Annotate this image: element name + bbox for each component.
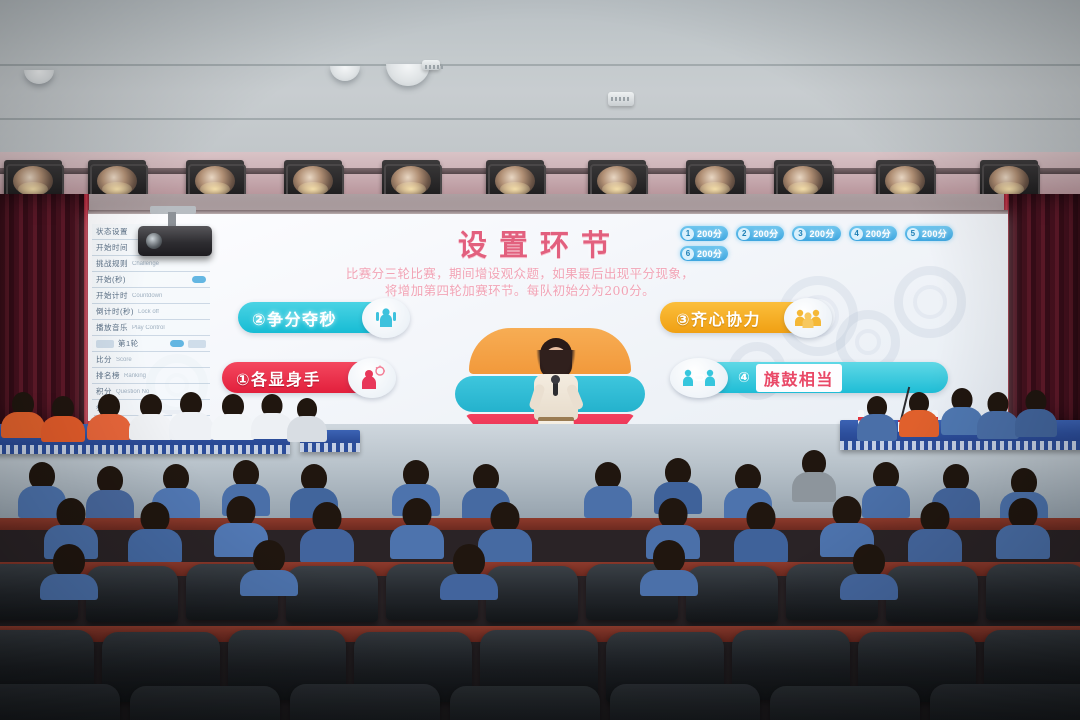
team-number: 5 [907,228,919,240]
person-idea-icon [348,358,396,398]
panel-row-label: 挑战规则 [96,258,128,269]
team-number: 2 [738,228,750,240]
panel-toggle[interactable] [170,340,184,347]
segment-pill-2[interactable]: ②争分夺秒 [238,302,390,333]
audience-member [240,540,298,586]
auditorium-seat [886,566,978,622]
panel-row-label: 开始时间 [96,242,128,253]
panel-row-label: 状态设置 [96,226,128,237]
auditorium-seat [290,684,440,720]
panel-row[interactable]: 开始计时Countdown [92,288,210,304]
microphone-icon [553,380,558,396]
front-row-person [168,392,214,436]
panel-row-label: 排名榜 [96,370,120,381]
auditorium-seat [610,684,760,720]
front-row-person [86,394,132,436]
ceiling-speaker-icon [422,60,440,70]
audience-member [908,502,962,558]
ceiling-speaker-icon [608,92,634,106]
team-score: 200分 [809,227,834,240]
panel-row-value: Play Control [132,325,165,331]
audience-member [390,498,444,554]
screenshot-root: 设置环节 比赛分三轮比赛，期间增设观众题，如果最后出现平分现象， 将增加第四轮加… [0,0,1080,720]
slide-subtitle-line-2: 将增加第四轮加赛环节。每队初始分为200分。 [300,282,740,299]
slide-subtitle: 比赛分三轮比赛，期间增设观众题，如果最后出现平分现象， 将增加第四轮加赛环节。每… [300,265,740,299]
panel-row-label: 倒计时(秒) [96,306,134,317]
team-number: 3 [794,228,806,240]
panel-row[interactable]: 第1轮 [92,336,210,352]
team-score-chip: 2 200分 [736,226,784,241]
panel-row-value: Challenge [132,261,159,267]
panel-button[interactable] [96,340,114,348]
panel-row-label: 开始计时 [96,290,128,301]
segment-pill-1[interactable]: ①各显身手 [222,362,376,393]
auditorium-seat [770,686,920,720]
segment-order-4: ④ [738,369,750,386]
audience-member [734,502,788,558]
auditorium-seat [930,684,1080,720]
panel-row-value: Score [116,357,132,363]
panel-row-value: Lock off [138,309,159,315]
ceiling-downlight [330,66,360,81]
panel-row[interactable]: 排名榜Ranking [92,368,210,384]
panel-row-label: 开始(秒) [96,274,126,285]
segment-label-1: ①各显身手 [236,366,321,390]
team-score: 200分 [697,247,722,260]
segment-label-4: 旗鼓相当 [756,364,842,392]
panel-row[interactable]: 倒计时(秒)Lock off [92,304,210,320]
panel-row-value: Countdown [132,293,162,299]
team-score: 200分 [922,227,947,240]
front-row-person [286,398,328,438]
audience-member [440,544,498,590]
segment-pill-3[interactable]: ③齐心协力 [660,302,816,333]
auditorium-seat [130,686,280,720]
audience-member [840,544,898,590]
team-score-list: 1 200分 2 200分 3 200分 4 200分 5 200分 6 200… [680,226,990,261]
audience-member [640,540,698,586]
audience-area [0,440,1080,720]
team-score-chip: 6 200分 [680,246,728,261]
team-score-chip: 5 200分 [905,226,953,241]
ceiling-downlight [24,70,54,84]
panel-toggle[interactable] [192,276,206,283]
audience-member [300,502,354,558]
slide-subtitle-line-1: 比赛分三轮比赛，期间增设观众题，如果最后出现平分现象， [300,265,740,282]
team-number: 1 [682,228,694,240]
front-row-person [40,396,86,438]
team-score: 200分 [753,227,778,240]
auditorium-seat [686,566,778,622]
front-row-person [856,396,898,438]
audience-member [996,498,1050,554]
team-score-chip: 3 200分 [792,226,840,241]
panel-row[interactable]: 比分Score [92,352,210,368]
team-score-chip: 1 200分 [680,226,728,241]
segment-label-2: ②争分夺秒 [252,306,337,330]
team-number: 6 [682,248,694,260]
people-group-icon [784,298,832,338]
panel-row-value: Ranking [124,373,146,379]
front-row-person [1014,390,1058,434]
team-score: 200分 [866,227,891,240]
audience-member [128,502,182,558]
panel-row[interactable]: 挑战规则Challenge [92,256,210,272]
team-score-chip: 4 200分 [849,226,897,241]
auditorium-seat [286,566,378,622]
panel-row-label: 比分 [96,354,112,365]
audience-member [792,450,836,498]
panel-row[interactable]: 播放音乐Play Control [92,320,210,336]
gear-watermark-icon [894,266,966,338]
panel-confirm-button[interactable] [188,340,206,348]
audience-member [584,462,632,514]
front-row-person [898,392,940,434]
panel-row-label: 播放音乐 [96,322,128,333]
person-raised-icon [362,298,410,338]
panel-row[interactable]: 开始(秒) [92,272,210,288]
auditorium-seat [986,564,1080,620]
ceiling [0,0,1080,152]
auditorium-seat [0,684,120,720]
two-people-balance-icon [670,358,728,398]
team-number: 4 [851,228,863,240]
segment-label-3: ③齐心协力 [676,306,761,330]
audience-member [40,544,98,590]
auditorium-seat [486,566,578,622]
auditorium-seat [450,686,600,720]
panel-row-label: 第1轮 [118,338,139,349]
auditorium-seat [86,566,178,622]
ceiling-projector [138,226,212,256]
team-score: 200分 [697,227,722,240]
